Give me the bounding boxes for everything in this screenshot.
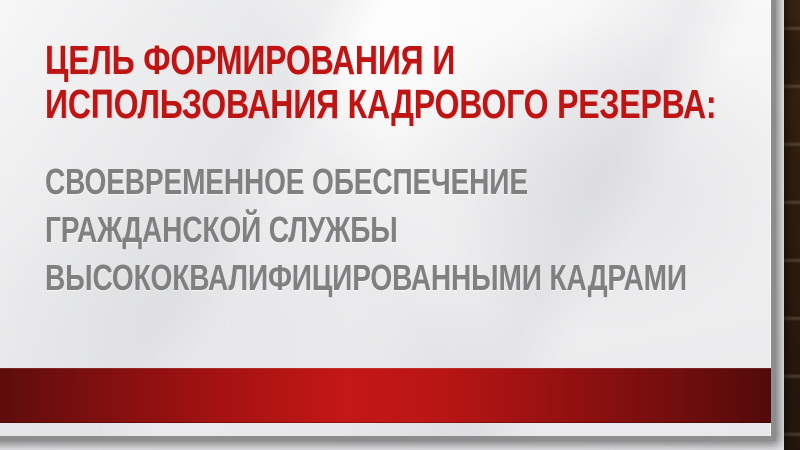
slide-title: ЦЕЛЬ ФОРМИРОВАНИЯ И ИСПОЛЬЗОВАНИЯ КАДРОВ… bbox=[45, 38, 800, 126]
presentation-slide: ЦЕЛЬ ФОРМИРОВАНИЯ И ИСПОЛЬЗОВАНИЯ КАДРОВ… bbox=[0, 0, 800, 450]
red-accent-band bbox=[0, 368, 771, 423]
slide-body: СВОЕВРЕМЕННОЕ ОБЕСПЕЧЕНИЕ ГРАЖДАНСКОЙ СЛ… bbox=[45, 158, 800, 302]
body-line-1: СВОЕВРЕМЕННОЕ ОБЕСПЕЧЕНИЕ bbox=[45, 158, 786, 206]
body-line-2: ГРАЖДАНСКОЙ СЛУЖБЫ bbox=[45, 206, 786, 254]
title-line-2: ИСПОЛЬЗОВАНИЯ КАДРОВОГО РЕЗЕРВА: bbox=[45, 82, 747, 126]
title-line-1: ЦЕЛЬ ФОРМИРОВАНИЯ И bbox=[45, 38, 747, 82]
body-line-3: ВЫСОКОКВАЛИФИЦИРОВАННЫМИ КАДРАМИ bbox=[45, 254, 786, 302]
